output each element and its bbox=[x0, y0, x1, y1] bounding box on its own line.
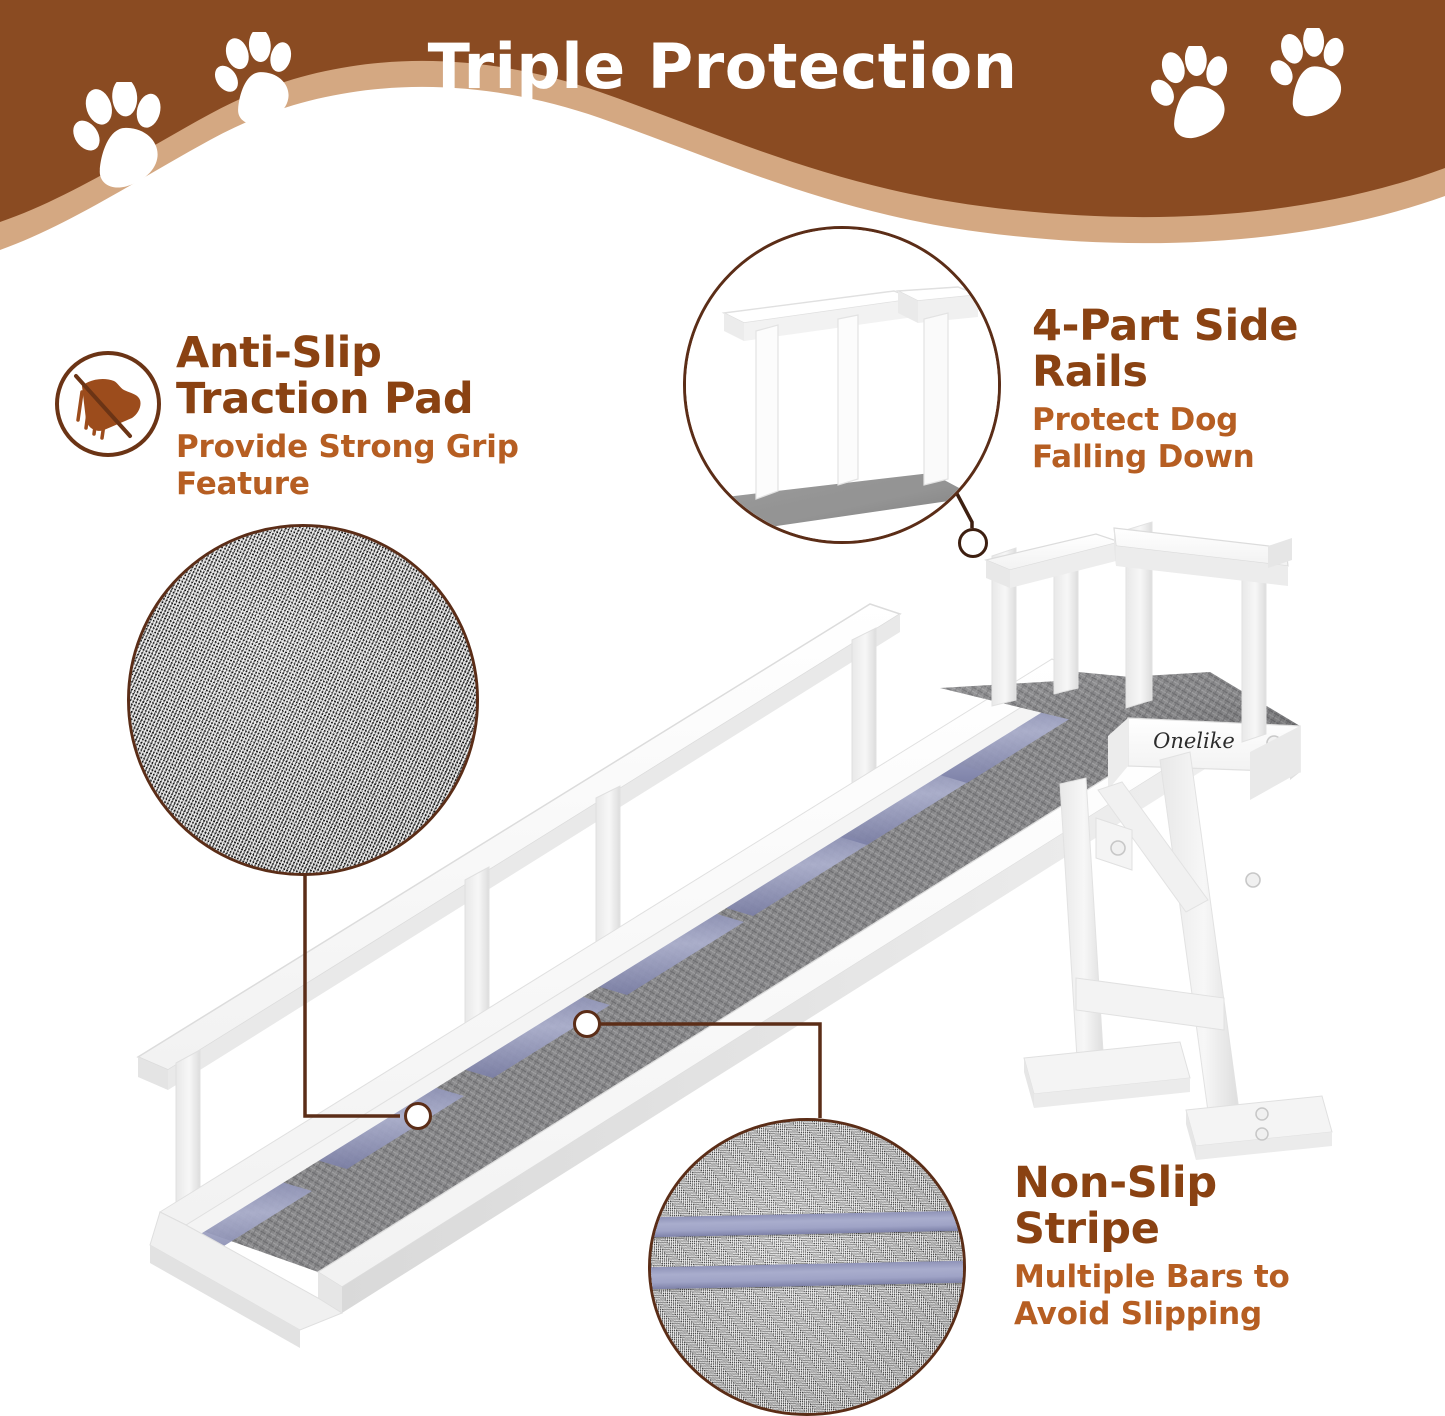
header-banner: Triple Protection bbox=[0, 0, 1445, 250]
feature-non-slip-stripe: Non-Slip Stripe Multiple Bars to Avoid S… bbox=[1014, 1160, 1394, 1333]
feature-subtitle: Provide Strong Grip Feature bbox=[176, 429, 596, 503]
platform-assembly bbox=[940, 522, 1300, 800]
screw-icon bbox=[1256, 1128, 1268, 1140]
support-legs bbox=[1024, 752, 1332, 1160]
feature-title: Non-Slip Stripe bbox=[1014, 1160, 1394, 1253]
ramp-marker-dot-stripe bbox=[573, 1010, 601, 1038]
feature-title: Anti-Slip Traction Pad bbox=[176, 330, 596, 423]
rails-marker-ring bbox=[958, 528, 988, 558]
detail-circle-traction-pad bbox=[127, 524, 479, 876]
brand-logo-text: Onelike bbox=[1153, 729, 1235, 753]
feature-title: 4-Part Side Rails bbox=[1032, 303, 1412, 396]
detail-circle-side-rails bbox=[683, 226, 1001, 544]
screw-icon bbox=[1267, 736, 1281, 750]
feature-subtitle: Protect Dog Falling Down bbox=[1032, 402, 1412, 476]
side-rails-closeup bbox=[686, 229, 1001, 544]
screw-icon bbox=[1246, 873, 1260, 887]
detail-circle-non-slip-stripe bbox=[648, 1118, 966, 1416]
feature-four-part-side-rails: 4-Part Side Rails Protect Dog Falling Do… bbox=[1032, 303, 1412, 476]
screw-icon bbox=[1256, 1108, 1268, 1120]
carpet-texture-macro bbox=[130, 527, 476, 873]
banner-wave-shapes bbox=[0, 0, 1445, 250]
ramp-marker-dot-traction bbox=[404, 1102, 432, 1130]
feature-subtitle: Multiple Bars to Avoid Slipping bbox=[1014, 1259, 1394, 1333]
screw-icon bbox=[1111, 841, 1125, 855]
feature-anti-slip-traction-pad: Anti-Slip Traction Pad Provide Strong Gr… bbox=[176, 330, 596, 503]
anti-slip-shoe-icon bbox=[52, 348, 164, 460]
